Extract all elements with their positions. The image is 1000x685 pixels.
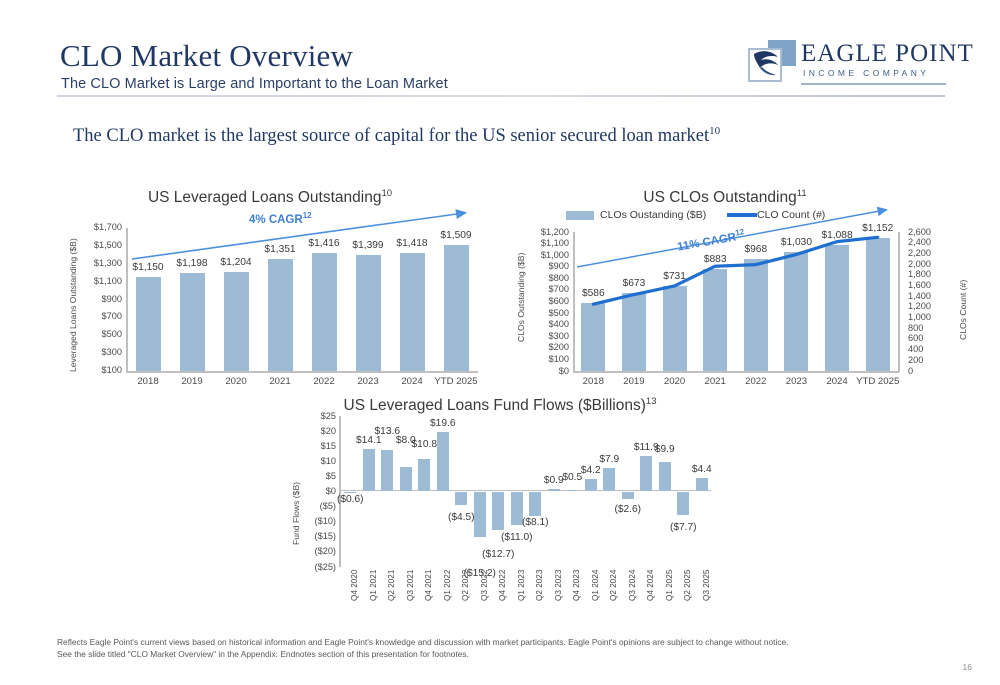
chart3-xtick-14: Q2 2024 [609, 541, 618, 601]
chart3-xtick-19: Q3 2025 [702, 541, 711, 601]
chart1-title-footnote: 10 [381, 188, 392, 199]
chart3-xtick-4: Q4 2021 [424, 541, 433, 601]
chart3-xtick-17: Q1 2025 [665, 541, 674, 601]
footer-line-2: See the slide titled "CLO Market Overvie… [57, 648, 947, 660]
page-title: CLO Market Overview [60, 38, 353, 74]
chart3-xtick-1: Q1 2021 [369, 541, 378, 601]
chart3-bar-label-10: ($8.1) [508, 517, 562, 528]
chart3-bar-3[interactable] [400, 467, 412, 491]
chart2-ytick-6: $600 [524, 296, 569, 306]
chart3-ytick-9: ($20) [292, 546, 336, 556]
footer-disclaimer: Reflects Eagle Point's current views bas… [57, 636, 947, 660]
logo-tagline: INCOME COMPANY [803, 68, 929, 78]
chart3-bar-14[interactable] [603, 468, 615, 492]
chart3-ytick-8: ($15) [292, 531, 336, 541]
chart2-ytick-right-9: 800 [908, 323, 953, 333]
chart1-x-axis-line [126, 371, 478, 373]
chart3-ytick-7: ($10) [292, 516, 336, 526]
chart2-ytick-8: $400 [524, 319, 569, 329]
chart1-ytick-3: $1,100 [76, 276, 122, 286]
chart3-xtick-8: Q4 2022 [498, 541, 507, 601]
page-number: 16 [963, 662, 972, 672]
chart3-xtick-15: Q3 2024 [628, 541, 637, 601]
slide: CLO Market Overview The CLO Market is La… [0, 0, 1000, 685]
chart1-bar-4[interactable] [312, 253, 337, 371]
chart3-bar-10[interactable] [529, 492, 541, 516]
chart2-ytick-right-12: 200 [908, 355, 953, 365]
chart3-bar-11[interactable] [548, 489, 560, 492]
chart3-ytick-1: $20 [292, 426, 336, 436]
chart1-bar-2[interactable] [224, 272, 249, 371]
chart3-xtick-18: Q2 2025 [683, 541, 692, 601]
chart3-title: US Leveraged Loans Fund Flows ($Billions… [280, 396, 720, 415]
eagle-glyph [748, 40, 796, 84]
chart1-cagr-text: 4% CAGR [249, 214, 303, 226]
lead-statement-text: The CLO market is the largest source of … [73, 126, 709, 146]
chart3-y-axis-line [339, 416, 341, 567]
lead-statement: The CLO market is the largest source of … [73, 125, 720, 147]
chart2-ytick-7: $500 [524, 308, 569, 318]
chart3-bar-0[interactable] [344, 492, 356, 494]
chart3-bar-18[interactable] [677, 492, 689, 515]
chart1-bar-6[interactable] [400, 253, 425, 371]
chart2-ytick-9: $300 [524, 331, 569, 341]
logo-underline [801, 83, 946, 85]
chart3-bar-1[interactable] [363, 449, 375, 492]
chart3-bar-7[interactable] [474, 492, 486, 538]
chart1-ytick-1: $1,500 [76, 240, 122, 250]
chart3-zero-line [339, 490, 711, 491]
chart2-ytick-2: $1,000 [524, 250, 569, 260]
chart3-ytick-10: ($25) [292, 562, 336, 572]
page-subtitle: The CLO Market is Large and Important to… [61, 76, 448, 92]
chart3-xtick-6: Q2 2022 [461, 541, 470, 601]
chart3-xtick-9: Q1 2023 [517, 541, 526, 601]
chart2-ytick-0: $1,200 [524, 227, 569, 237]
chart2-ytick-right-13: 0 [908, 366, 953, 376]
chart3-bar-17[interactable] [659, 462, 671, 492]
chart3-xtick-7: Q3 2022 [480, 541, 489, 601]
chart1-ytick-2: $1,300 [76, 258, 122, 268]
chart3-bar-label-17: $9.9 [638, 444, 692, 455]
chart2-ytick-right-5: 1,600 [908, 280, 953, 290]
chart3-xtick-13: Q1 2024 [591, 541, 600, 601]
chart3-bar-5[interactable] [437, 432, 449, 491]
chart2-ytick-right-4: 1,800 [908, 269, 953, 279]
chart2-ytick-right-11: 400 [908, 344, 953, 354]
chart1-bar-5[interactable] [356, 255, 381, 371]
chart3-xtick-2: Q2 2021 [387, 541, 396, 601]
chart3-xtick-0: Q4 2020 [350, 541, 359, 601]
chart3-bar-19[interactable] [696, 478, 708, 491]
footer-line-1: Reflects Eagle Point's current views bas… [57, 636, 947, 648]
chart3-bar-label-18: ($7.7) [656, 522, 710, 533]
eagle-point-logo: EAGLE POINT INCOME COMPANY [748, 38, 946, 88]
chart3-xtick-5: Q1 2022 [443, 541, 452, 601]
chart1-cagr-footnote: 12 [303, 211, 312, 220]
chart3-xtick-3: Q3 2021 [406, 541, 415, 601]
chart2-cagr-footnote: 12 [735, 227, 745, 237]
chart2-ytick-10: $200 [524, 342, 569, 352]
chart3-ytick-4: $5 [292, 471, 336, 481]
chart1-ytick-4: $900 [76, 294, 122, 304]
chart3-xtick-12: Q4 2023 [572, 541, 581, 601]
chart3-bar-15[interactable] [622, 492, 634, 500]
chart2-ytick-right-1: 2,400 [908, 237, 953, 247]
chart3-title-text: US Leveraged Loans Fund Flows ($Billions… [344, 397, 646, 414]
chart3-bar-13[interactable] [585, 479, 597, 492]
chart3-xtick-11: Q3 2023 [554, 541, 563, 601]
chart3-xtick-10: Q2 2023 [535, 541, 544, 601]
chart2-ytick-right-8: 1,000 [908, 312, 953, 322]
chart2-ytick-right-3: 2,000 [908, 259, 953, 269]
chart1-ytick-6: $500 [76, 329, 122, 339]
chart3-bar-8[interactable] [492, 492, 504, 530]
chart1-bar-0[interactable] [136, 277, 161, 371]
chart2-title-footnote: 11 [797, 188, 807, 199]
chart3-bar-2[interactable] [381, 450, 393, 491]
chart3-bar-label-5: $19.6 [416, 418, 470, 429]
chart1-bar-1[interactable] [180, 273, 205, 371]
chart3-bar-4[interactable] [418, 459, 430, 492]
chart2-ytick-right-7: 1,200 [908, 301, 953, 311]
header-divider [57, 95, 945, 97]
chart3-ytick-0: $25 [292, 411, 336, 421]
chart2-ytick-4: $800 [524, 273, 569, 283]
chart3-bar-6[interactable] [455, 492, 467, 506]
chart3-xtick-16: Q4 2024 [646, 541, 655, 601]
chart3-bar-label-19: $4.4 [675, 464, 729, 475]
lead-statement-footnote: 10 [709, 125, 720, 137]
logo-wordmark: EAGLE POINT [801, 40, 974, 68]
chart3-bar-label-14: $7.9 [582, 454, 636, 465]
chart3-ytick-3: $10 [292, 456, 336, 466]
chart1-title: US Leveraged Loans Outstanding10 [60, 188, 480, 207]
chart2-xtick-7: YTD 2025 [848, 376, 908, 387]
chart2-ytick-right-2: 2,200 [908, 248, 953, 258]
chart1-ytick-8: $100 [76, 365, 122, 375]
chart3-ytick-2: $15 [292, 441, 336, 451]
chart1-ytick-0: $1,700 [76, 222, 122, 232]
eagle-icon [748, 40, 796, 84]
chart2-ytick-3: $900 [524, 261, 569, 271]
chart2-y-axis-right-title: CLOs Count (#) [958, 280, 968, 340]
chart2-ytick-5: $700 [524, 284, 569, 294]
chart1-bar-3[interactable] [268, 259, 293, 371]
chart2-ytick-11: $100 [524, 354, 569, 364]
chart2-ytick-1: $1,100 [524, 238, 569, 248]
chart1-xtick-7: YTD 2025 [426, 376, 486, 387]
chart3-bar-label-15: ($2.6) [601, 504, 655, 515]
chart1-ytick-7: $300 [76, 347, 122, 357]
chart3-title-footnote: 13 [646, 396, 657, 407]
chart1-cagr-label: 4% CAGR12 [249, 211, 312, 226]
chart2-ytick-right-0: 2,600 [908, 227, 953, 237]
chart3-bar-12[interactable] [566, 490, 578, 492]
chart3-bar-label-0: ($0.6) [323, 494, 377, 505]
chart2-ytick-12: $0 [524, 366, 569, 376]
chart1-ytick-5: $700 [76, 311, 122, 321]
chart3-bar-16[interactable] [640, 456, 652, 492]
chart2-ytick-right-6: 1,400 [908, 291, 953, 301]
chart1-title-text: US Leveraged Loans Outstanding [148, 189, 382, 206]
chart2-ytick-right-10: 600 [908, 333, 953, 343]
